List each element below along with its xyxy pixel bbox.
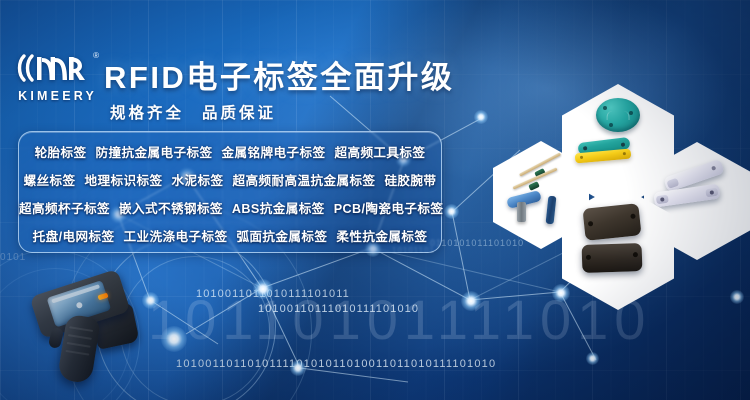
network-node [586,352,599,365]
rfid-promo-banner: 10110101111010 1010011011010111101011 10… [0,0,750,400]
tag-category-item: PCB/陶瓷电子标签 [334,202,444,216]
dark-pcb-anti-metal-tag [582,243,643,273]
kimeery-monogram-icon: ® [12,52,100,86]
subtitle-right: 品质保证 [202,105,276,122]
tag-category-item: ABS抗金属标签 [232,202,325,216]
network-node [161,326,187,352]
tag-category-item: 金属铭牌电子标签 [222,146,326,160]
network-node [290,360,306,376]
tag-category-item: 托盘/电网标签 [33,230,115,244]
network-node [444,204,459,219]
tag-row: 螺丝标签地理标识标签水泥标签超高频耐高温抗金属标签硅胶腕带 [19,167,441,195]
tag-row: 超高频杯子标签嵌入式不锈钢标签ABS抗金属标签PCB/陶瓷电子标签 [19,195,441,223]
tag-category-panel: 轮胎标签防撞抗金属电子标签金属铭牌电子标签超高频工具标签 螺丝标签地理标识标签水… [18,131,442,253]
tag-category-item: 防撞抗金属电子标签 [96,146,213,160]
network-node [474,110,488,124]
brand-logo[interactable]: ® KIMEERY [12,52,100,103]
network-node [461,291,481,311]
dark-pcb-anti-metal-tag [582,203,641,241]
teal-disc-tag [596,98,640,132]
brand-wordmark: KIMEERY [12,89,100,103]
network-node [730,290,744,304]
tag-category-item: 轮胎标签 [35,146,87,160]
handheld-rfid-reader [26,272,152,396]
tag-category-item: 螺丝标签 [24,174,76,188]
glass-tube-chip [528,181,540,191]
tag-category-item: 超高频杯子标签 [19,202,110,216]
tag-row: 托盘/电网标签工业洗涤电子标签弧面抗金属标签柔性抗金属标签 [19,223,441,251]
tag-category-item: 硅胶腕带 [384,174,436,188]
registered-trademark-icon: ® [93,51,99,60]
tag-category-item: 弧面抗金属标签 [236,230,327,244]
network-node [253,279,273,299]
white-abs-anti-metal-tag [653,183,720,207]
tag-category-item: 工业洗涤电子标签 [123,230,227,244]
page-subtitle: 规格齐全品质保证 [110,101,276,123]
blue-screw-shank [517,202,526,222]
tag-category-item: 柔性抗金属标签 [336,230,427,244]
subtitle-left: 规格齐全 [110,105,184,122]
page-title: RFID电子标签全面升级 [104,52,454,97]
tag-category-item: 超高频耐高温抗金属标签 [233,174,376,188]
tag-category-item: 水泥标签 [172,174,224,188]
tag-category-item: 嵌入式不锈钢标签 [119,202,223,216]
blue-rod-tag [546,196,557,225]
tag-category-item: 超高频工具标签 [334,146,425,160]
tag-row: 轮胎标签防撞抗金属电子标签金属铭牌电子标签超高频工具标签 [19,139,441,167]
network-node [552,284,570,302]
tag-category-item: 地理标识标签 [85,174,163,188]
